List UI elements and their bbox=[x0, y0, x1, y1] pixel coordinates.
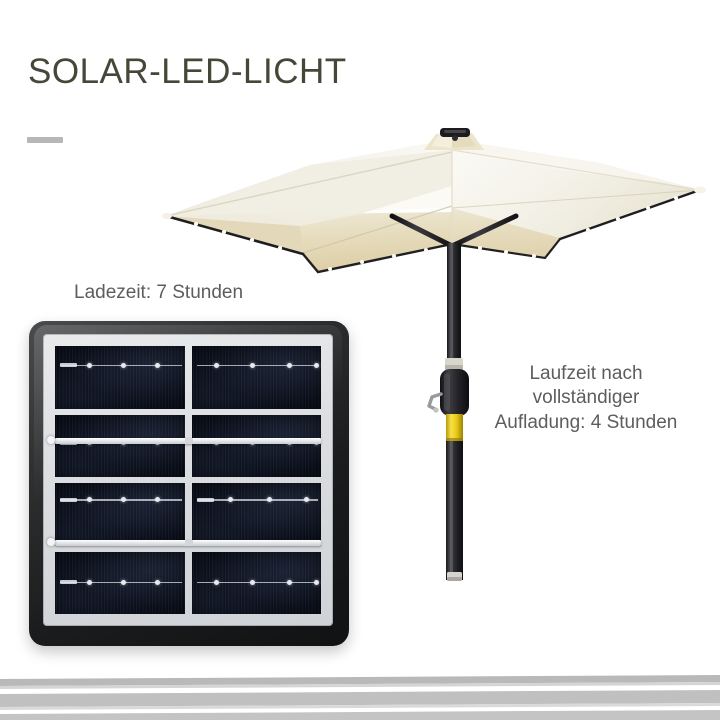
canopy-rib-seam-left-2 bbox=[303, 206, 452, 253]
canopy-rib-seam-left-1 bbox=[166, 152, 452, 216]
busbar-tab bbox=[60, 580, 77, 584]
busbar-solder-dot bbox=[314, 363, 319, 368]
canopy-underside-right bbox=[452, 190, 700, 258]
solar-cell bbox=[192, 346, 322, 409]
cell-busbar bbox=[60, 582, 182, 584]
busbar-solder-dot bbox=[87, 497, 92, 502]
busbar-solder-dot bbox=[214, 363, 219, 368]
led-lights-right bbox=[478, 196, 678, 258]
pole-lower-highlight bbox=[450, 441, 453, 580]
runtime-label: Laufzeit nach vollständiger Aufladung: 4… bbox=[470, 362, 702, 435]
solar-cell bbox=[192, 552, 322, 615]
product-feature-image: SOLAR-LED-LICHT bbox=[0, 0, 720, 720]
canopy-top-left-rear bbox=[166, 143, 452, 216]
busbar-solder-dot bbox=[250, 363, 255, 368]
canopy-underside-left bbox=[166, 212, 452, 272]
crank-housing bbox=[429, 369, 469, 416]
charging-time-label: Ladezeit: 7 Stunden bbox=[74, 281, 243, 305]
canopy-rib-seam-right-1 bbox=[452, 150, 700, 190]
canopy-top-left-front bbox=[166, 150, 452, 226]
crank-yellow-band bbox=[446, 414, 463, 442]
solar-cell bbox=[55, 346, 185, 409]
busbar-solder-dot bbox=[121, 363, 126, 368]
title-divider bbox=[27, 137, 63, 143]
pole-collar-shade bbox=[445, 365, 463, 370]
canopy-underside-left-outer bbox=[166, 198, 303, 253]
canopy-tip-left bbox=[162, 213, 172, 219]
canopy-tip-right bbox=[694, 187, 706, 194]
canopy-top-right-rear bbox=[452, 143, 700, 238]
cell-busbar bbox=[197, 582, 319, 584]
busbar-solder-dot bbox=[87, 363, 92, 368]
crank-yellow-band-shade bbox=[446, 438, 463, 442]
panel-edge-lug bbox=[47, 436, 55, 444]
solar-cell bbox=[192, 483, 322, 546]
pole-foot-tip bbox=[447, 572, 462, 581]
canopy-rib-seam-right-2 bbox=[452, 190, 700, 208]
busbar-tab bbox=[60, 363, 77, 367]
canopy-rib-left-outer bbox=[166, 216, 303, 254]
busbar-solder-dot bbox=[228, 497, 233, 502]
cell-interconnect-ribbon bbox=[55, 540, 321, 546]
ribbon-gap bbox=[185, 540, 193, 546]
solar-panel-backing bbox=[43, 334, 333, 626]
busbar-solder-dot bbox=[155, 497, 160, 502]
canopy-top-right-front bbox=[452, 143, 700, 190]
pole-lower bbox=[446, 441, 463, 580]
cell-busbar bbox=[197, 499, 319, 501]
solar-cell bbox=[55, 415, 185, 478]
led-lights-left bbox=[194, 222, 428, 271]
solar-cell bbox=[55, 483, 185, 546]
busbar-solder-dot bbox=[287, 580, 292, 585]
ribbon-gap bbox=[185, 438, 193, 444]
pole-collar bbox=[445, 358, 463, 370]
canopy-top-hub bbox=[424, 128, 484, 150]
busbar-solder-dot bbox=[250, 580, 255, 585]
busbar-tab bbox=[60, 498, 77, 502]
cell-busbar bbox=[197, 365, 319, 367]
pole-upper-highlight bbox=[451, 243, 454, 365]
solar-cell-grid bbox=[55, 346, 321, 614]
busbar-solder-dot bbox=[267, 497, 272, 502]
decking-lines bbox=[0, 672, 720, 720]
runtime-line-1: Laufzeit nach bbox=[470, 362, 702, 386]
busbar-solder-dot bbox=[214, 580, 219, 585]
canopy-rib-right-outer bbox=[560, 190, 700, 239]
pole-upper bbox=[447, 243, 461, 365]
panel-edge-lug bbox=[47, 538, 55, 546]
busbar-solder-dot bbox=[304, 497, 309, 502]
cell-interconnect-ribbon bbox=[55, 438, 321, 444]
canopy-strut-right bbox=[452, 216, 516, 246]
canopy-strut-left bbox=[392, 216, 452, 246]
busbar-tab bbox=[197, 498, 214, 502]
canopy-rib-left-inner bbox=[303, 244, 452, 272]
busbar-solder-dot bbox=[87, 580, 92, 585]
busbar-solder-dot bbox=[121, 497, 126, 502]
canopy-rib-right-inner bbox=[452, 239, 560, 258]
cell-busbar bbox=[60, 499, 182, 501]
busbar-solder-dot bbox=[155, 580, 160, 585]
busbar-solder-dot bbox=[314, 580, 319, 585]
solar-panel bbox=[29, 321, 349, 646]
busbar-solder-dot bbox=[287, 363, 292, 368]
runtime-line-2: vollständiger bbox=[470, 386, 702, 410]
busbar-solder-dot bbox=[155, 363, 160, 368]
solar-cell bbox=[55, 552, 185, 615]
crank-handle bbox=[429, 394, 441, 409]
busbar-solder-dot bbox=[121, 580, 126, 585]
solar-cell bbox=[192, 415, 322, 478]
page-title: SOLAR-LED-LICHT bbox=[28, 54, 347, 89]
pole-foot-tip-shadow bbox=[447, 577, 462, 581]
cell-busbar bbox=[60, 365, 182, 367]
runtime-line-3: Aufladung: 4 Stunden bbox=[470, 411, 702, 435]
